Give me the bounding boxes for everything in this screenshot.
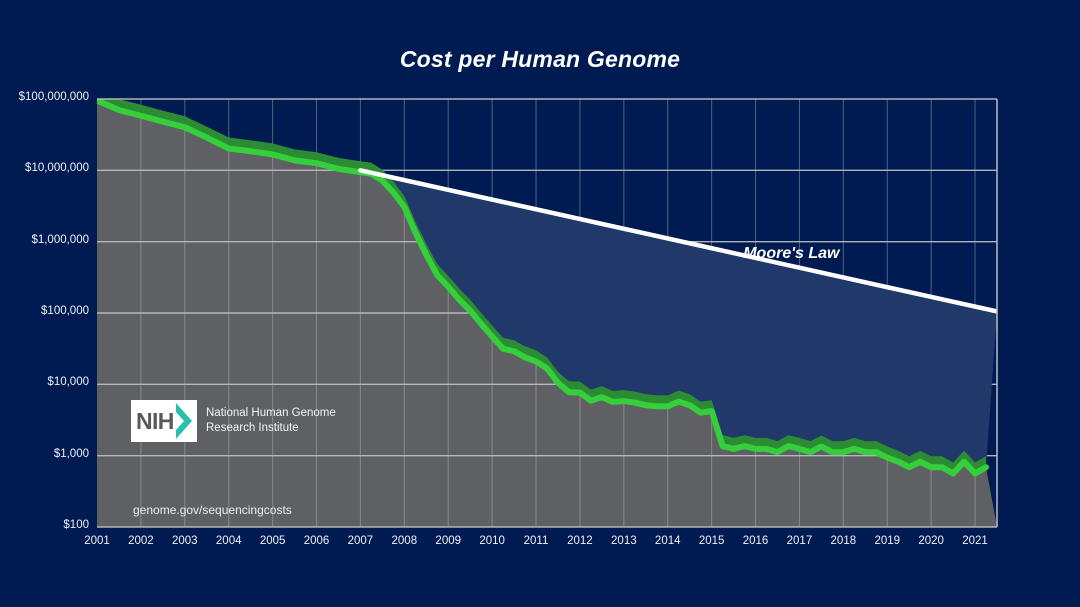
x-axis-tick-label: 2017 (777, 535, 821, 547)
x-axis-tick-label: 2014 (646, 535, 690, 547)
x-axis-tick-label: 2013 (602, 535, 646, 547)
x-axis-tick-label: 2005 (251, 535, 295, 547)
x-axis-tick-label: 2001 (75, 535, 119, 547)
x-axis-tick-label: 2016 (734, 535, 778, 547)
x-axis-tick-label: 2002 (119, 535, 163, 547)
y-axis-tick-label: $100 (63, 519, 89, 531)
y-axis-tick-label: $1,000 (54, 448, 89, 460)
x-axis-tick-label: 2006 (295, 535, 339, 547)
x-axis-tick-label: 2007 (338, 535, 382, 547)
y-axis-tick-label: $10,000 (47, 376, 89, 388)
y-axis-tick-label: $100,000,000 (19, 91, 89, 103)
y-axis-tick-label: $100,000 (41, 305, 89, 317)
x-axis-tick-label: 2008 (382, 535, 426, 547)
nih-logo-text: National Human Genome Research Institute (206, 406, 336, 436)
nih-logo-text-line2: Research Institute (206, 421, 336, 436)
nih-logo: NIH National Human Genome Research Insti… (131, 400, 336, 442)
source-url-text: genome.gov/sequencingcosts (133, 503, 292, 517)
y-axis-tick-label: $1,000,000 (31, 234, 89, 246)
nih-logo-mark: NIH (131, 400, 197, 442)
x-axis-tick-label: 2011 (514, 535, 558, 547)
x-axis-tick-label: 2010 (470, 535, 514, 547)
nih-logo-text-line1: National Human Genome (206, 406, 336, 421)
x-axis-tick-label: 2003 (163, 535, 207, 547)
moores-law-annotation: Moore's Law (743, 245, 839, 263)
x-axis-tick-label: 2019 (865, 535, 909, 547)
chevron-right-icon (175, 401, 194, 441)
y-axis-tick-label: $10,000,000 (25, 162, 89, 174)
x-axis-tick-label: 2004 (207, 535, 251, 547)
nih-logo-letters: NIH (131, 410, 174, 433)
x-axis-tick-label: 2018 (821, 535, 865, 547)
x-axis-tick-label: 2020 (909, 535, 953, 547)
x-axis-tick-label: 2015 (690, 535, 734, 547)
x-axis-tick-label: 2009 (426, 535, 470, 547)
x-axis-tick-label: 2021 (953, 535, 997, 547)
chart-screenshot: Cost per Human Genome $100,000,000$10,00… (0, 0, 1080, 607)
x-axis-tick-label: 2012 (558, 535, 602, 547)
